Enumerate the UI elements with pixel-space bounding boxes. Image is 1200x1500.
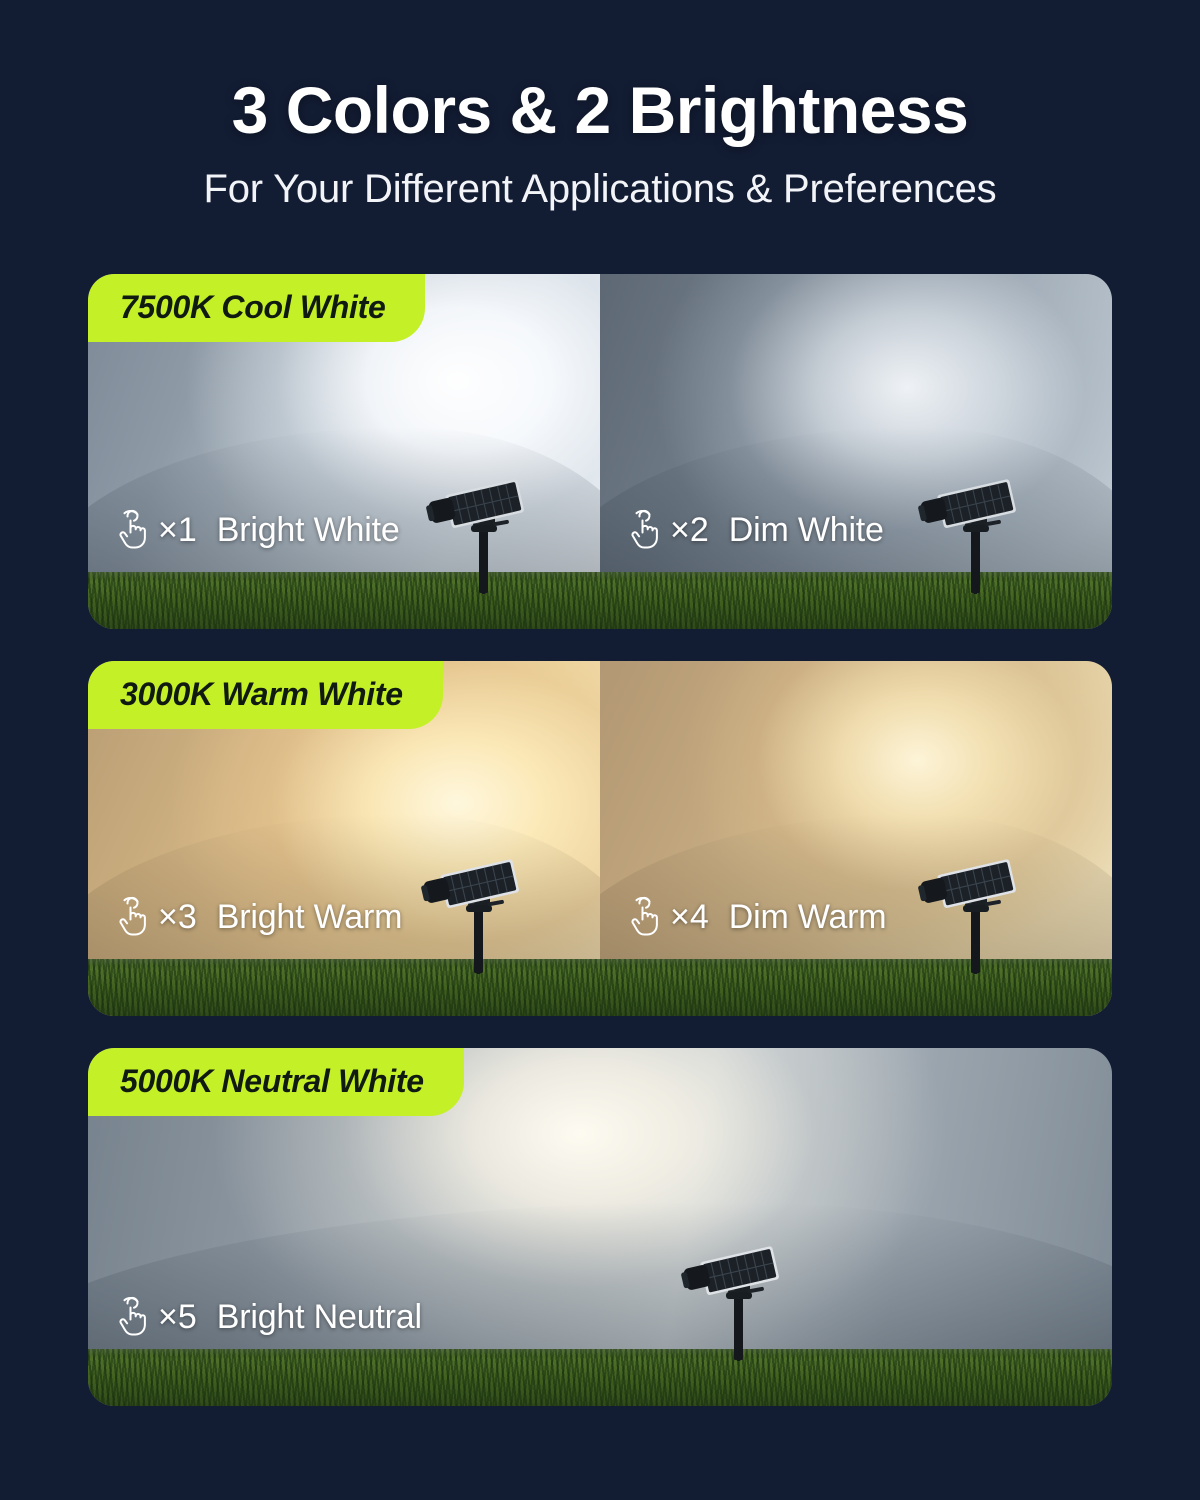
- card-warm-white: ×3 Bright Warm: [88, 661, 1112, 1016]
- solar-lamp: [915, 459, 1035, 594]
- badge-color-temp: 7500K Cool White: [88, 274, 425, 342]
- mode-label: Bright Warm: [217, 898, 402, 937]
- caption-bright-neutral: ×5 Bright Neutral: [114, 1296, 422, 1338]
- infographic-page: 3 Colors & 2 Brightness For Your Differe…: [0, 0, 1200, 1500]
- tap-count: ×2: [670, 511, 709, 550]
- tap-count: ×3: [158, 898, 197, 937]
- card-cool-white: ×1 Bright White: [88, 274, 1112, 629]
- tap-hand-icon: [626, 509, 664, 551]
- badge-color-temp: 3000K Warm White: [88, 661, 443, 729]
- mode-label: Bright Neutral: [217, 1298, 422, 1337]
- mode-label: Dim Warm: [729, 898, 887, 937]
- page-title: 3 Colors & 2 Brightness: [0, 76, 1200, 145]
- tap-count: ×4: [670, 898, 709, 937]
- grass-ground: [88, 1349, 1112, 1406]
- pane-dim-warm: ×4 Dim Warm: [600, 661, 1112, 1016]
- card-list: ×1 Bright White: [88, 274, 1112, 1406]
- grass-ground: [600, 572, 1112, 629]
- solar-lamp: [423, 459, 543, 594]
- solar-lamp: [418, 839, 538, 974]
- mode-label: Dim White: [729, 511, 884, 550]
- caption-bright-warm: ×3 Bright Warm: [114, 896, 402, 938]
- tap-hand-icon: [114, 896, 152, 938]
- caption-dim-warm: ×4 Dim Warm: [626, 896, 886, 938]
- caption-dim-white: ×2 Dim White: [626, 509, 884, 551]
- badge-color-temp: 5000K Neutral White: [88, 1048, 464, 1116]
- pane-dim-white: ×2 Dim White: [600, 274, 1112, 629]
- header: 3 Colors & 2 Brightness For Your Differe…: [0, 0, 1200, 212]
- tap-hand-icon: [114, 509, 152, 551]
- caption-bright-white: ×1 Bright White: [114, 509, 400, 551]
- solar-lamp: [915, 839, 1035, 974]
- mode-label: Bright White: [217, 511, 400, 550]
- solar-lamp: [678, 1226, 798, 1361]
- tap-hand-icon: [114, 1296, 152, 1338]
- page-subtitle: For Your Different Applications & Prefer…: [0, 167, 1200, 212]
- grass-ground: [600, 959, 1112, 1016]
- tap-count: ×5: [158, 1298, 197, 1337]
- tap-hand-icon: [626, 896, 664, 938]
- tap-count: ×1: [158, 511, 197, 550]
- card-neutral-white: ×5 Bright Neutral 5000K Neutral White: [88, 1048, 1112, 1406]
